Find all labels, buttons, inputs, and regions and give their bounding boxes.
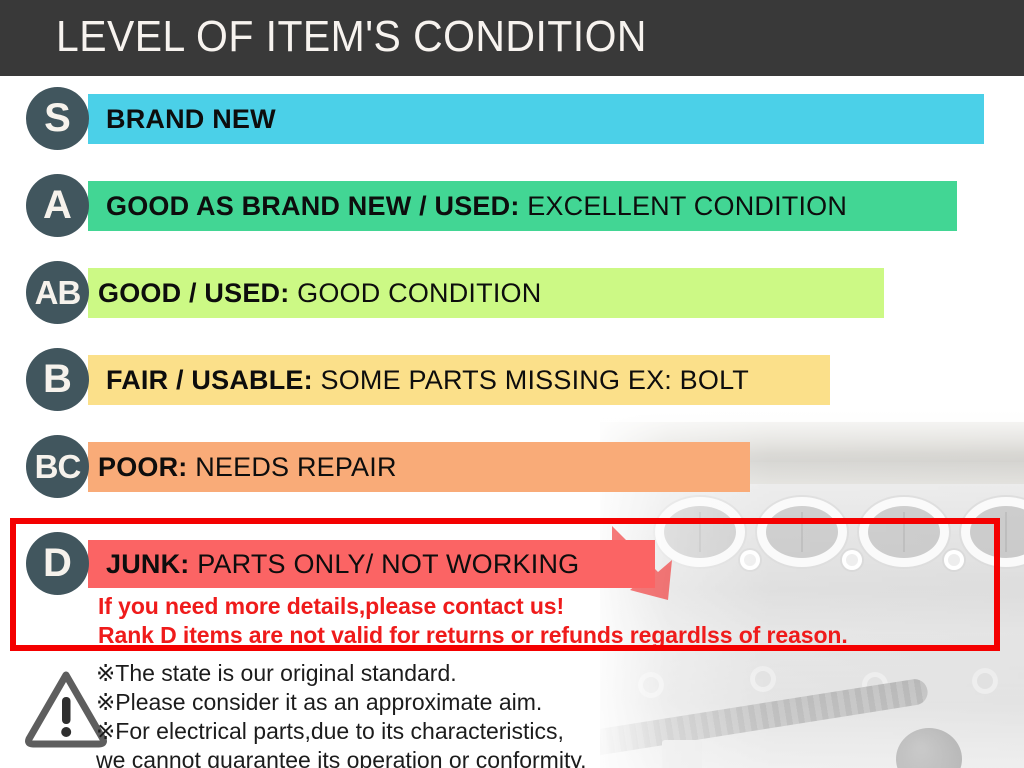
footer-notes-list: ※The state is our original standard. ※Pl… — [96, 659, 587, 768]
rank-badge-ab-letter: AB — [35, 274, 81, 312]
footer-note-1: ※The state is our original standard. — [96, 659, 587, 688]
rank-bar-bc: POOR: NEEDS REPAIR — [88, 442, 750, 492]
rank-bar-s: BRAND NEW — [88, 94, 984, 144]
rank-badge-a-letter: A — [43, 183, 72, 228]
rank-badge-bc: BC — [26, 435, 89, 498]
footer-note-2: ※Please consider it as an approximate ai… — [96, 688, 587, 717]
rank-bar-b: FAIR / USABLE: SOME PARTS MISSING EX: BO… — [88, 355, 830, 405]
footer-note-3: ※For electrical parts,due to its charact… — [96, 717, 587, 746]
rank-badge-d-letter: D — [43, 541, 72, 586]
rank-badge-b-letter: B — [43, 357, 72, 402]
rank-row-ab: GOOD / USED: GOOD CONDITION AB — [0, 250, 1024, 337]
rank-bar-a: GOOD AS BRAND NEW / USED: EXCELLENT COND… — [88, 181, 957, 231]
rank-bar-d: JUNK: PARTS ONLY/ NOT WORKING — [88, 540, 655, 588]
rank-row-b: FAIR / USABLE: SOME PARTS MISSING EX: BO… — [0, 337, 1024, 424]
page-title: LEVEL OF ITEM'S CONDITION — [56, 12, 691, 62]
footer-note-4: we cannot guarantee its operation or con… — [96, 746, 587, 768]
header-bar: LEVEL OF ITEM'S CONDITION — [0, 0, 1024, 76]
rank-row-bc: POOR: NEEDS REPAIR BC — [0, 424, 1024, 511]
rank-row-d: JUNK: PARTS ONLY/ NOT WORKING D — [0, 518, 1024, 651]
rank-label-bc: POOR: NEEDS REPAIR — [98, 452, 397, 483]
rank-label-ab: GOOD / USED: GOOD CONDITION — [98, 278, 541, 309]
rank-badge-s: S — [26, 87, 89, 150]
rank-label-s: BRAND NEW — [106, 104, 276, 135]
rank-badge-s-letter: S — [44, 96, 71, 141]
rank-row-s: BRAND NEW S — [0, 76, 1024, 163]
rank-badge-d: D — [26, 532, 89, 595]
rank-label-a: GOOD AS BRAND NEW / USED: EXCELLENT COND… — [106, 191, 847, 222]
rank-badge-b: B — [26, 348, 89, 411]
rank-badge-bc-letter: BC — [35, 448, 81, 486]
rank-badge-a: A — [26, 174, 89, 237]
rank-badge-ab: AB — [26, 261, 89, 324]
rank-bar-ab: GOOD / USED: GOOD CONDITION — [88, 268, 884, 318]
rank-row-a: GOOD AS BRAND NEW / USED: EXCELLENT COND… — [0, 163, 1024, 250]
footer-notes-section: ※The state is our original standard. ※Pl… — [0, 655, 1024, 768]
rank-list: BRAND NEW S GOOD AS BRAND NEW / USED: EX… — [0, 76, 1024, 511]
rank-label-b: FAIR / USABLE: SOME PARTS MISSING EX: BO… — [106, 365, 749, 396]
rank-label-d: JUNK: PARTS ONLY/ NOT WORKING — [106, 549, 579, 580]
page-title-text: LEVEL OF ITEM'S CONDITION — [56, 12, 647, 62]
